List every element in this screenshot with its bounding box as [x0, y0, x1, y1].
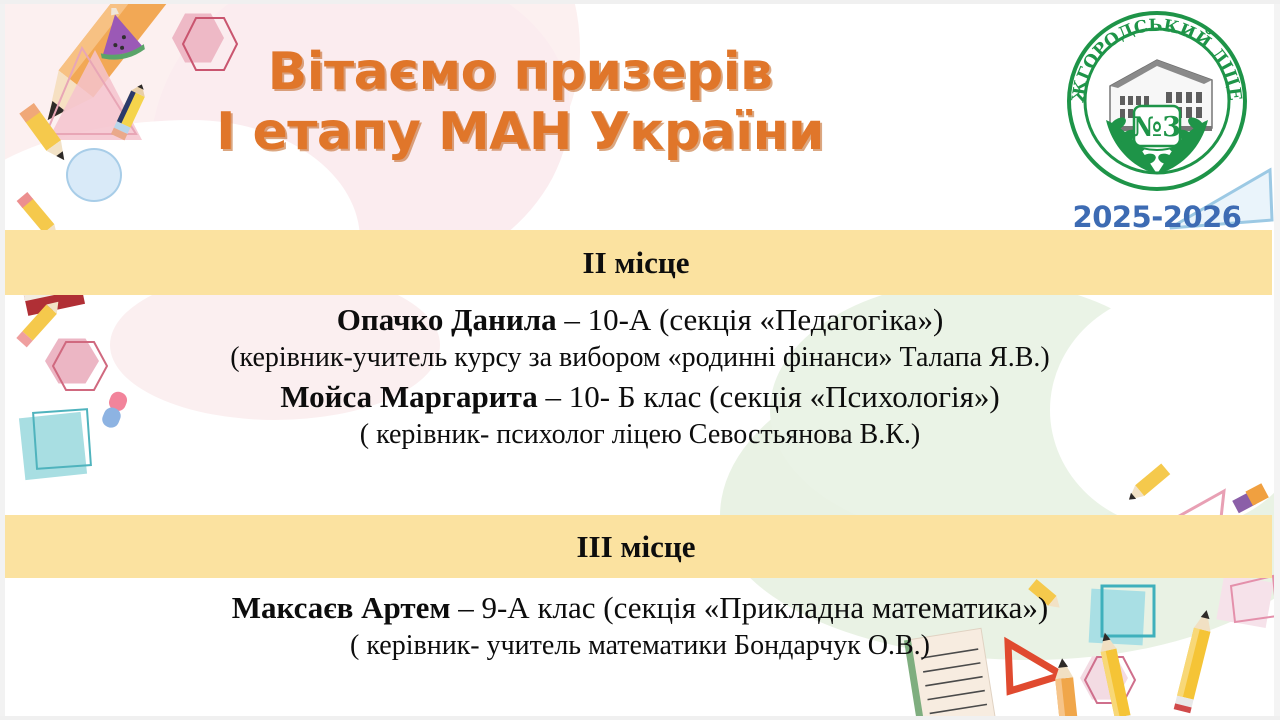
winner-supervisor: (керівник-учитель курсу за вибором «роди… — [0, 339, 1280, 376]
winner-entry: Мойса Маргарита – 10- Б клас (секція «Пс… — [0, 377, 1280, 454]
winner-name: Максаєв Артем — [232, 590, 451, 625]
page-border-top — [0, 0, 1280, 4]
winner-line: Мойса Маргарита – 10- Б клас (секція «Пс… — [0, 377, 1280, 416]
winner-details: – 10- Б клас (секція «Психологія») — [538, 379, 1000, 414]
winner-details: – 9-А клас (секція «Прикладна математика… — [450, 590, 1048, 625]
page-border-left — [0, 0, 5, 720]
emblem-shield-number: №3 — [1133, 112, 1181, 143]
page-border-right — [1274, 0, 1280, 720]
place-band-third-label: ІІІ місце — [576, 529, 695, 565]
winner-supervisor: ( керівник- психолог ліцею Севостьянова … — [0, 416, 1280, 453]
presentation-slide: Вітаємо призерів І етапу МАН України УЖГ… — [0, 0, 1280, 720]
winner-line: Максаєв Артем – 9-А клас (секція «Прикла… — [0, 588, 1280, 627]
place-band-third: ІІІ місце — [0, 515, 1272, 578]
school-emblem: УЖГОРОДСЬКИЙ ЛІЦЕЙ — [1062, 6, 1252, 234]
emblem-year-label: 2025-2026 — [1062, 200, 1252, 234]
eraser-purple-orange-icon — [1230, 480, 1272, 520]
winner-supervisor: ( керівник- учитель математики Бондарчук… — [0, 627, 1280, 664]
winner-entry: Опачко Данила – 10-А (секція «Педагогіка… — [0, 300, 1280, 377]
winner-name: Мойса Маргарита — [280, 379, 537, 414]
winner-line: Опачко Данила – 10-А (секція «Педагогіка… — [0, 300, 1280, 339]
winner-details: – 10-А (секція «Педагогіка») — [557, 302, 944, 337]
winners-list-second-place: Опачко Данила – 10-А (секція «Педагогіка… — [0, 300, 1280, 453]
place-band-second: ІІ місце — [0, 230, 1272, 295]
winners-list-third-place: Максаєв Артем – 9-А клас (секція «Прикла… — [0, 588, 1280, 665]
place-band-second-label: ІІ місце — [583, 245, 690, 281]
emblem-graphic: УЖГОРОДСЬКИЙ ЛІЦЕЙ — [1062, 6, 1252, 196]
winner-name: Опачко Данила — [337, 302, 557, 337]
slide-title: Вітаємо призерів І етапу МАН України — [0, 42, 1040, 163]
page-border-bottom — [0, 716, 1280, 720]
winner-entry: Максаєв Артем – 9-А клас (секція «Прикла… — [0, 588, 1280, 665]
slide-title-line-1: Вітаємо призерів — [0, 42, 1040, 102]
slide-title-line-2: І етапу МАН України — [0, 102, 1040, 162]
